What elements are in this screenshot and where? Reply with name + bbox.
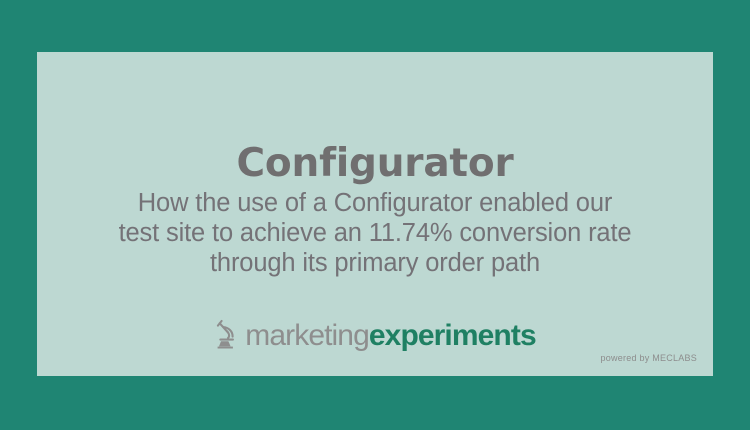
headline-block: Configurator How the use of a Configurat… <box>37 142 713 278</box>
logo-word-marketing: marketing <box>245 319 369 352</box>
slide-subtitle-line-3: through its primary order path <box>37 248 713 278</box>
logo-row: marketingexperiments <box>214 317 535 351</box>
logo-tagline: powered by MECLABS <box>600 353 711 364</box>
microscope-icon <box>214 318 244 350</box>
slide-title: Configurator <box>37 142 713 186</box>
slide-root: Configurator How the use of a Configurat… <box>0 0 750 430</box>
slide-card: Configurator How the use of a Configurat… <box>37 52 713 376</box>
logo-word-experiments: experiments <box>369 319 536 352</box>
logo-wordmark: marketingexperiments <box>245 321 535 351</box>
slide-subtitle: How the use of a Configurator enabled ou… <box>37 188 713 278</box>
slide-subtitle-line-2: test site to achieve an 11.74% conversio… <box>37 218 713 248</box>
slide-subtitle-line-1: How the use of a Configurator enabled ou… <box>37 188 713 218</box>
brand-logo-lockup: marketingexperiments powered by MECLABS <box>37 317 713 364</box>
